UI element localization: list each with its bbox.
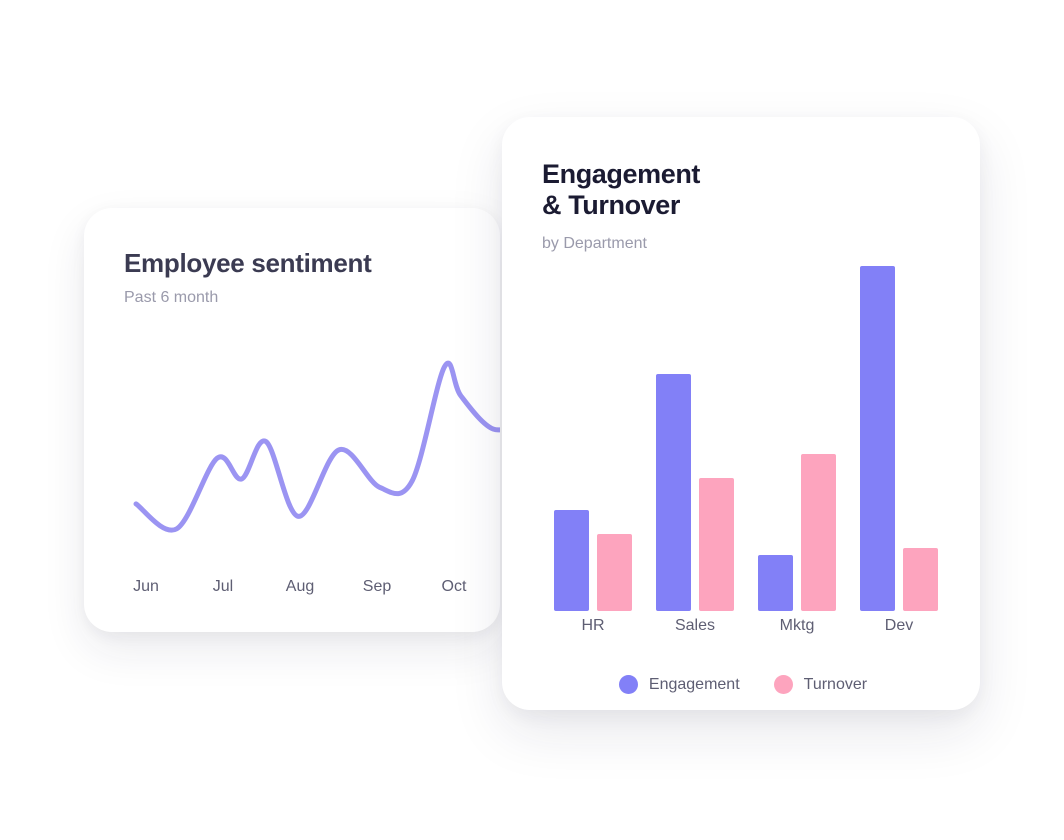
- engagement-turnover-card[interactable]: Engagement & Turnover by Department HRSa…: [502, 117, 980, 710]
- engagement-bar-chart: [542, 262, 944, 611]
- x-axis-tick-dev: Dev: [885, 617, 913, 635]
- employee-sentiment-card[interactable]: Employee sentiment Past 6 month JunJulAu…: [84, 208, 500, 632]
- legend-label: Engagement: [649, 676, 740, 694]
- sentiment-card-content: Employee sentiment Past 6 month JunJulAu…: [124, 248, 500, 632]
- legend-item-turnover[interactable]: Turnover: [774, 675, 867, 694]
- circle-swatch-icon-turnover: [774, 675, 793, 694]
- x-axis-tick-hr: HR: [581, 617, 604, 635]
- bar-group-dev: [860, 262, 938, 611]
- engagement-card-title: Engagement & Turnover: [542, 159, 802, 222]
- engagement-x-axis: HRSalesMktgDev: [542, 617, 944, 645]
- x-axis-tick-jun: Jun: [133, 578, 159, 596]
- circle-swatch-icon-engagement: [619, 675, 638, 694]
- x-axis-tick-jul: Jul: [213, 578, 233, 596]
- bar-sales-engagement[interactable]: [656, 374, 691, 611]
- x-axis-tick-sales: Sales: [675, 617, 715, 635]
- engagement-card-subtitle: by Department: [542, 234, 952, 253]
- x-axis-tick-aug: Aug: [286, 578, 314, 596]
- bar-group-hr: [554, 262, 632, 611]
- sentiment-line-path: [136, 363, 500, 530]
- page-title: Employee sentiment: [124, 248, 500, 278]
- bar-mktg-turnover[interactable]: [801, 454, 836, 611]
- legend-item-engagement[interactable]: Engagement: [619, 675, 740, 694]
- x-axis-tick-sep: Sep: [363, 578, 391, 596]
- bar-hr-turnover[interactable]: [597, 534, 632, 611]
- bar-sales-turnover[interactable]: [699, 478, 734, 611]
- bar-group-sales: [656, 262, 734, 611]
- engagement-card-content: Engagement & Turnover by Department HRSa…: [542, 159, 952, 710]
- sentiment-line-svg: [124, 334, 500, 574]
- bar-hr-engagement[interactable]: [554, 510, 589, 611]
- engagement-card-title-line-2: & Turnover: [542, 190, 680, 220]
- dashboard-stage: Employee sentiment Past 6 month JunJulAu…: [0, 0, 1064, 840]
- legend-label: Turnover: [804, 676, 867, 694]
- sentiment-line-chart: [124, 334, 500, 574]
- bar-mktg-engagement[interactable]: [758, 555, 793, 611]
- sentiment-x-axis: JunJulAugSepOct: [124, 578, 500, 608]
- sentiment-card-subtitle: Past 6 month: [124, 288, 500, 307]
- x-axis-tick-mktg: Mktg: [780, 617, 815, 635]
- bar-dev-turnover[interactable]: [903, 548, 938, 611]
- x-axis-tick-oct: Oct: [442, 578, 467, 596]
- bar-group-mktg: [758, 262, 836, 611]
- engagement-card-title-line-1: Engagement: [542, 159, 700, 189]
- engagement-legend: EngagementTurnover: [542, 675, 944, 694]
- bar-dev-engagement[interactable]: [860, 266, 895, 612]
